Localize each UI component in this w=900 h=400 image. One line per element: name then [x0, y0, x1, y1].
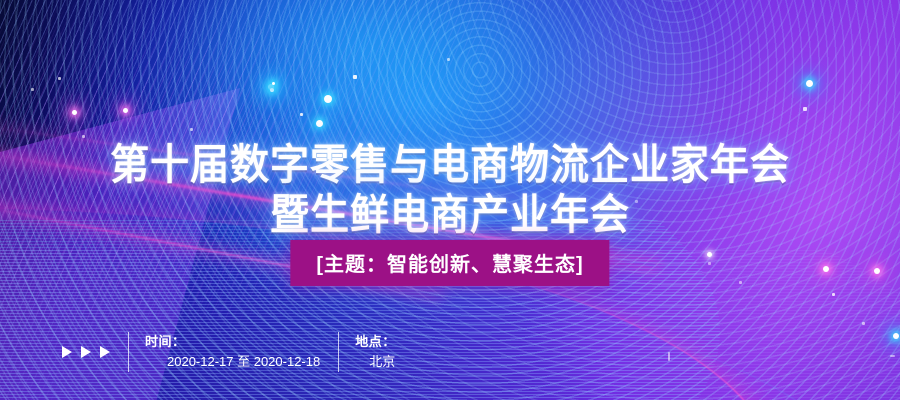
- divider: [338, 332, 339, 372]
- title-block: 第十届数字零售与电商物流企业家年会 暨生鲜电商产业年会: [0, 140, 900, 240]
- time-info: 时间： 2020-12-17 至 2020-12-18: [145, 332, 320, 372]
- time-value: 2020-12-17 至 2020-12-18: [145, 352, 320, 372]
- info-bar: 时间： 2020-12-17 至 2020-12-18 地点： 北京: [62, 326, 414, 378]
- place-label: 地点：: [355, 332, 396, 352]
- divider: [128, 332, 129, 372]
- title-line-1: 第十届数字零售与电商物流企业家年会: [32, 140, 869, 190]
- place-value: 北京: [355, 352, 396, 372]
- place-info: 地点： 北京: [355, 332, 396, 372]
- play-triangle-icon: [62, 346, 72, 358]
- conference-banner: 第十届数字零售与电商物流企业家年会 暨生鲜电商产业年会 [主题：智能创新、慧聚生…: [0, 0, 900, 400]
- time-label: 时间：: [145, 332, 320, 352]
- title-line-2: 暨生鲜电商产业年会: [32, 190, 869, 240]
- arrow-group: [62, 346, 110, 358]
- theme-banner: [主题：智能创新、慧聚生态]: [290, 240, 609, 286]
- play-triangle-icon: [100, 346, 110, 358]
- play-triangle-icon: [81, 346, 91, 358]
